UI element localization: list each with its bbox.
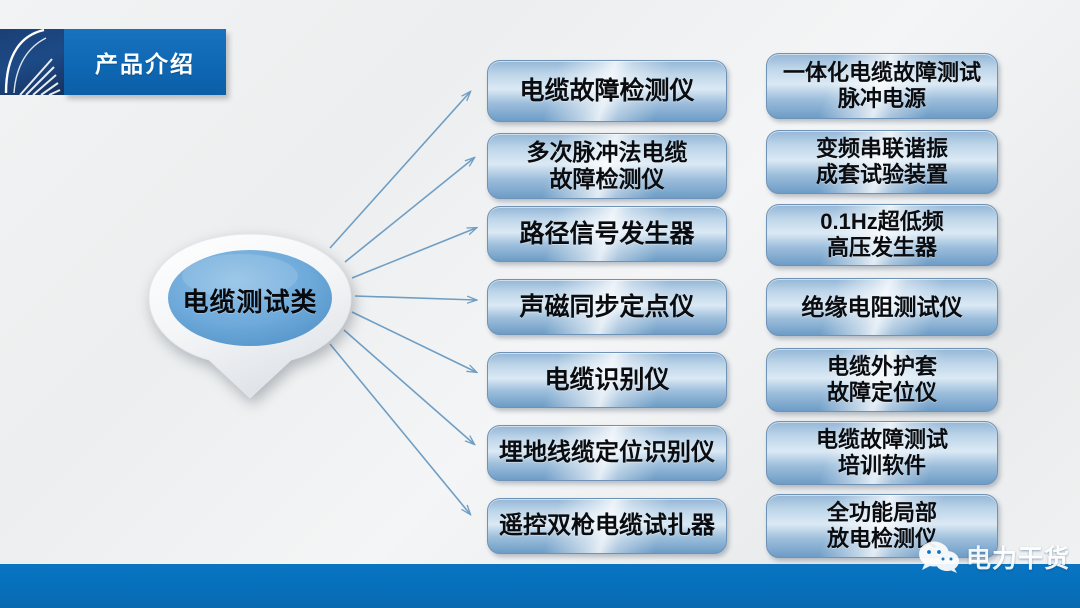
product-box-r6-label-line1: 电缆故障测试 [816, 427, 948, 452]
product-box-r4-label: 绝缘电阻测试仪 [773, 294, 991, 321]
product-box-l5[interactable]: 电缆识别仪 [487, 352, 727, 408]
product-box-l7-label: 遥控双枪电缆试扎器 [494, 512, 720, 540]
product-box-l3-label: 路径信号发生器 [494, 220, 720, 249]
arrow-3 [352, 228, 476, 278]
arrow-5 [352, 312, 476, 372]
product-box-l5-label: 电缆识别仪 [494, 366, 720, 395]
slide-canvas: 产品介绍 [0, 0, 1080, 608]
company-arc-logo-icon [0, 29, 64, 95]
slide-header: 产品介绍 [0, 29, 226, 95]
arrow-1 [330, 92, 470, 248]
product-box-l2[interactable]: 多次脉冲法电缆 故障检测仪 [487, 133, 727, 199]
product-box-l6-label: 埋地线缆定位识别仪 [494, 439, 720, 467]
watermark-label: 电力干货 [966, 539, 1070, 575]
header-title-banner: 产品介绍 [64, 29, 226, 95]
product-box-l2-label-line2: 故障检测仪 [550, 166, 665, 192]
product-box-r1-label-line2: 脉冲电源 [838, 86, 926, 111]
company-logo [0, 29, 64, 95]
center-node[interactable]: 电缆测试类 [145, 232, 355, 400]
product-box-l4-label: 声磁同步定点仪 [494, 293, 720, 322]
page-title: 产品介绍 [95, 45, 195, 79]
product-box-r6[interactable]: 电缆故障测试 培训软件 [766, 421, 998, 485]
product-box-r2-label-line2: 成套试验装置 [816, 162, 948, 187]
product-box-r2-label-line1: 变频串联谐振 [816, 136, 948, 161]
product-box-l6[interactable]: 埋地线缆定位识别仪 [487, 425, 727, 481]
center-node-pin-shape [145, 232, 355, 400]
arrow-2 [345, 158, 474, 262]
watermark: 电力干货 [918, 539, 1070, 575]
arrow-4 [355, 296, 476, 300]
product-box-l7[interactable]: 遥控双枪电缆试扎器 [487, 498, 727, 554]
product-box-r5-label-line2: 故障定位仪 [827, 380, 937, 405]
product-box-r3-label-line2: 高压发生器 [827, 235, 937, 260]
product-box-r4[interactable]: 绝缘电阻测试仪 [766, 278, 998, 336]
product-box-r1[interactable]: 一体化电缆故障测试 脉冲电源 [766, 53, 998, 119]
product-box-r3[interactable]: 0.1Hz超低频 高压发生器 [766, 204, 998, 266]
wechat-icon [918, 540, 960, 574]
product-box-r3-label-line1: 0.1Hz超低频 [820, 209, 943, 234]
product-box-r7-label-line1: 全功能局部 [827, 500, 937, 525]
product-box-l4[interactable]: 声磁同步定点仪 [487, 279, 727, 335]
product-box-r2[interactable]: 变频串联谐振 成套试验装置 [766, 130, 998, 194]
product-box-r5-label-line1: 电缆外护套 [827, 354, 937, 379]
product-box-l2-label-line1: 多次脉冲法电缆 [527, 139, 688, 165]
product-box-l1[interactable]: 电缆故障检测仪 [487, 60, 727, 122]
product-box-l3[interactable]: 路径信号发生器 [487, 206, 727, 262]
product-box-l1-label: 电缆故障检测仪 [494, 77, 720, 106]
arrow-6 [344, 330, 474, 444]
product-box-r6-label-line2: 培训软件 [838, 453, 926, 478]
product-box-r5[interactable]: 电缆外护套 故障定位仪 [766, 348, 998, 412]
product-box-r1-label-line1: 一体化电缆故障测试 [783, 60, 981, 85]
